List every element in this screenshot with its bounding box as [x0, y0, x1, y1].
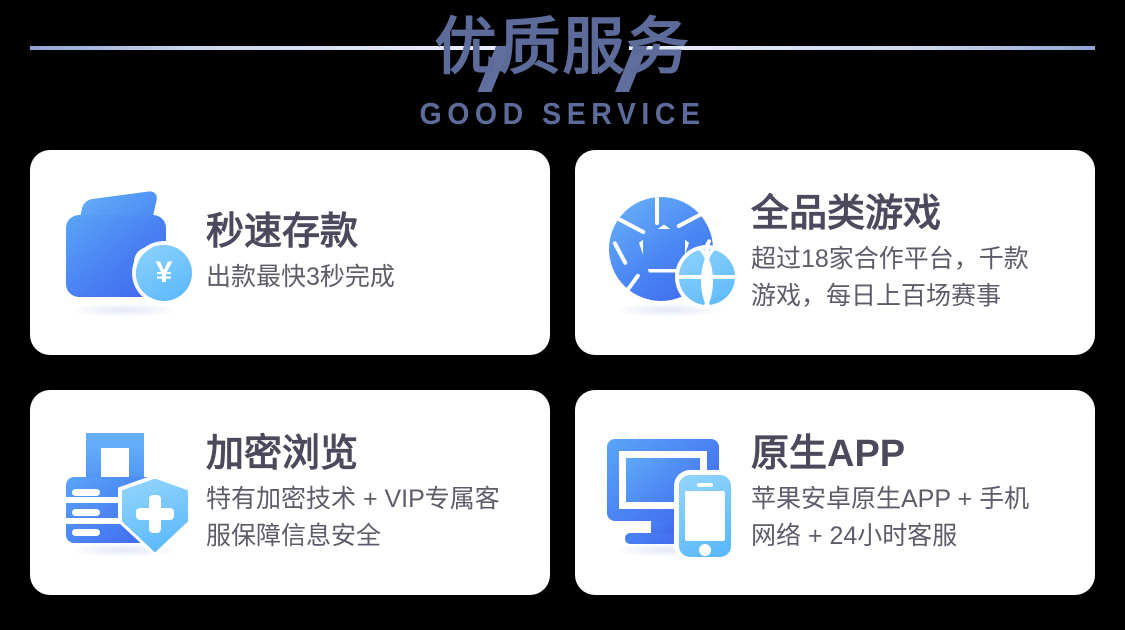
card-description: 超过18家合作平台，千款 游戏，每日上百场赛事: [751, 241, 1081, 315]
lock-stripe: [72, 529, 100, 536]
card-title: 加密浏览: [206, 431, 536, 477]
page-title-en: GOOD SERVICE: [45, 96, 1080, 132]
card-text-block: 全品类游戏 超过18家合作平台，千款 游戏，每日上百场赛事: [751, 191, 1095, 315]
soccer-seam: [655, 197, 659, 225]
card-text-block: 秒速存款 出款最快3秒完成: [206, 209, 550, 296]
phone-shape: [679, 475, 731, 557]
card-description-line: 特有加密技术 + VIP专属客: [206, 481, 536, 518]
card-text-block: 原生APP 苹果安卓原生APP + 手机 网络 + 24小时客服: [751, 431, 1095, 555]
soccer-seam: [676, 209, 708, 228]
card-title: 秒速存款: [206, 209, 536, 255]
feature-card-native-app[interactable]: 原生APP 苹果安卓原生APP + 手机 网络 + 24小时客服: [575, 390, 1095, 595]
lock-stripe: [72, 509, 100, 516]
icon-shadow: [68, 303, 180, 317]
icon-shadow: [613, 303, 725, 317]
feature-card-encryption[interactable]: 加密浏览 特有加密技术 + VIP专属客 服保障信息安全: [30, 390, 550, 595]
soccer-seam: [612, 240, 628, 265]
card-text-block: 加密浏览 特有加密技术 + VIP专属客 服保障信息安全: [206, 431, 550, 555]
feature-card-games[interactable]: 全品类游戏 超过18家合作平台，千款 游戏，每日上百场赛事: [575, 150, 1095, 355]
soccer-seam: [614, 215, 646, 234]
soccer-basketball-icon: [603, 183, 743, 323]
shield-cross-icon: [136, 508, 174, 520]
card-description: 苹果安卓原生APP + 手机 网络 + 24小时客服: [751, 481, 1081, 555]
card-description: 特有加密技术 + VIP专属客 服保障信息安全: [206, 481, 536, 555]
lock-stripe: [72, 489, 100, 496]
page-title-cn: 优质服务: [0, 8, 1125, 88]
card-title: 原生APP: [751, 431, 1081, 477]
monitor-phone-icon: [603, 423, 743, 563]
card-description-line: 苹果安卓原生APP + 手机: [751, 481, 1081, 518]
feature-card-deposit[interactable]: ¥ 秒速存款 出款最快3秒完成: [30, 150, 550, 355]
card-description-line: 服保障信息安全: [206, 518, 536, 555]
card-title: 全品类游戏: [751, 191, 1081, 237]
card-description-line: 超过18家合作平台，千款: [751, 241, 1081, 278]
basketball-curve: [701, 249, 735, 305]
yen-coin-icon: ¥: [136, 245, 192, 301]
feature-card-grid: ¥ 秒速存款 出款最快3秒完成 全: [30, 150, 1095, 595]
phone-home-button: [699, 544, 711, 556]
phone-speaker: [697, 483, 713, 487]
lock-shield-icon: [58, 423, 198, 563]
page-header: 优质服务 GOOD SERVICE: [0, 0, 1125, 150]
basketball-shape: [679, 249, 735, 305]
wallet-yen-icon: ¥: [58, 183, 198, 323]
card-description-line: 网络 + 24小时客服: [751, 518, 1081, 555]
soccer-seam: [617, 273, 640, 301]
card-description-line: 游戏，每日上百场赛事: [751, 278, 1081, 315]
phone-screen: [685, 491, 725, 541]
card-description: 出款最快3秒完成: [206, 259, 536, 296]
